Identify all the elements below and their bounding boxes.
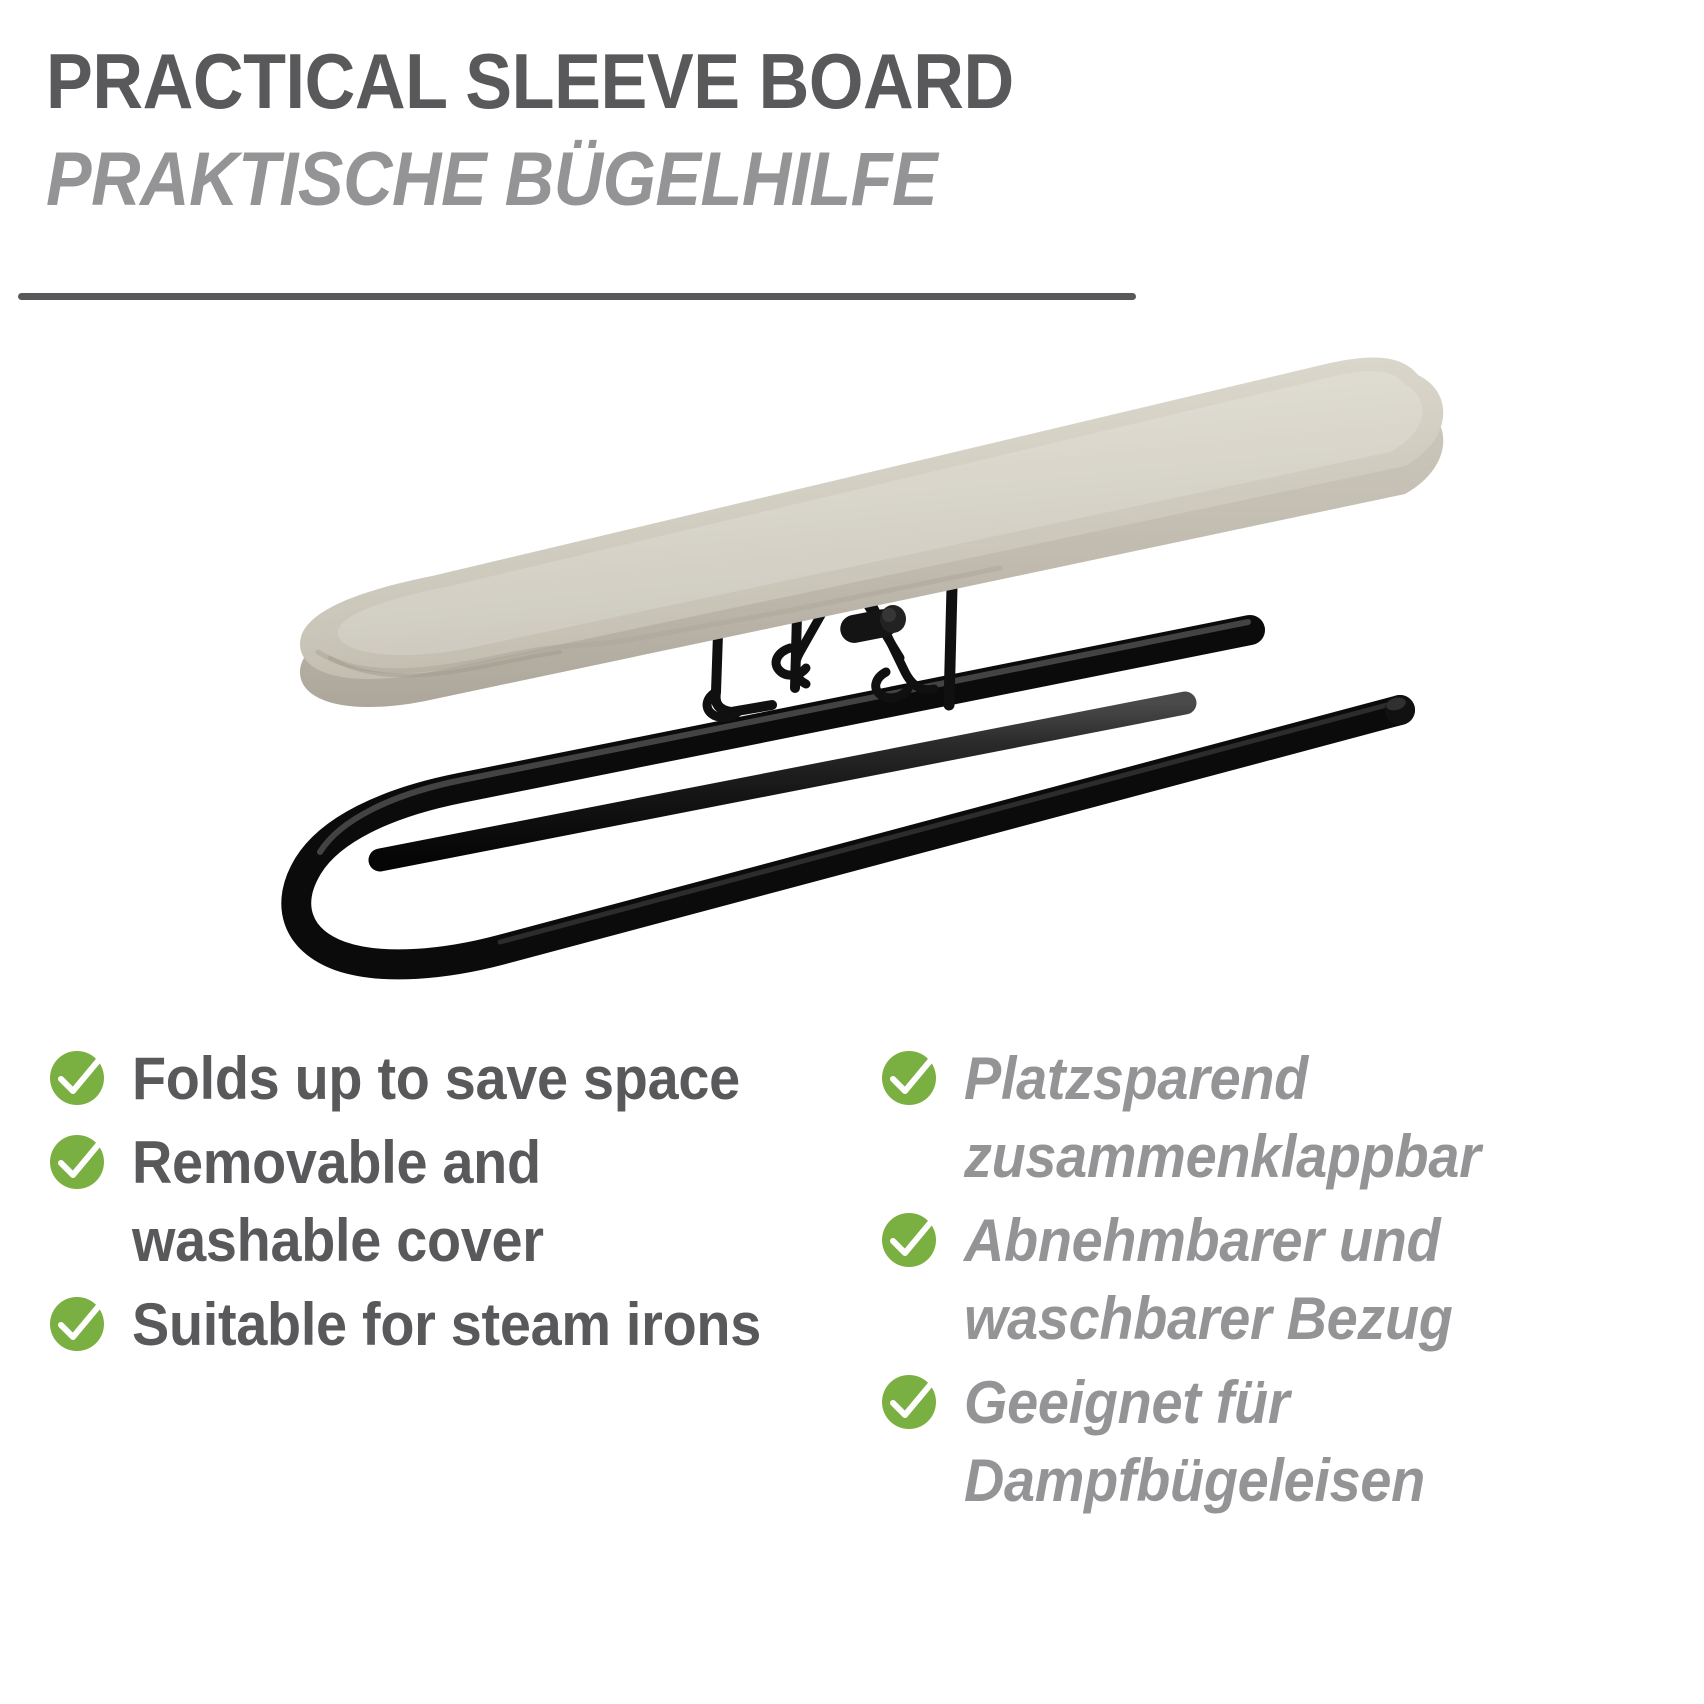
feature-column-german: Platzsparend zusammenklappbar Abnehmbare…: [880, 1040, 1670, 1526]
product-feature-card: PRACTICAL SLEEVE BOARD PRAKTISCHE BÜGELH…: [0, 0, 1704, 1704]
check-icon: [880, 1370, 942, 1432]
feature-item: Platzsparend zusammenklappbar: [880, 1040, 1670, 1196]
feature-column-english: Folds up to save space Removable and was…: [48, 1040, 848, 1370]
product-image: [0, 300, 1704, 1030]
check-icon: [48, 1292, 110, 1354]
check-icon: [48, 1130, 110, 1192]
page-title-english: PRACTICAL SLEEVE BOARD: [46, 38, 1014, 124]
feature-label: Suitable for steam irons: [132, 1286, 798, 1364]
feature-label: Abnehmbarer und waschbarer Bezug: [964, 1202, 1621, 1358]
page-title-german: PRAKTISCHE BÜGELHILFE: [46, 138, 937, 222]
feature-label: Removable and washable cover: [132, 1124, 798, 1280]
feature-list: Folds up to save space Removable and was…: [0, 1040, 1704, 1704]
feature-item: Suitable for steam irons: [48, 1286, 848, 1364]
feature-label: Folds up to save space: [132, 1040, 798, 1118]
feature-item: Removable and washable cover: [48, 1124, 848, 1280]
feature-label: Geeignet für Dampfbügeleisen: [964, 1364, 1621, 1520]
check-icon: [48, 1046, 110, 1108]
feature-item: Abnehmbarer und waschbarer Bezug: [880, 1202, 1670, 1358]
sleeve-board-illustration: [0, 300, 1704, 1030]
feature-label: Platzsparend zusammenklappbar: [964, 1040, 1621, 1196]
header: PRACTICAL SLEEVE BOARD PRAKTISCHE BÜGELH…: [0, 0, 1704, 300]
header-divider: [18, 293, 1136, 300]
board-cover: [300, 357, 1443, 707]
check-icon: [880, 1208, 942, 1270]
check-icon: [880, 1046, 942, 1108]
feature-item: Folds up to save space: [48, 1040, 848, 1118]
feature-item: Geeignet für Dampfbügeleisen: [880, 1364, 1670, 1520]
